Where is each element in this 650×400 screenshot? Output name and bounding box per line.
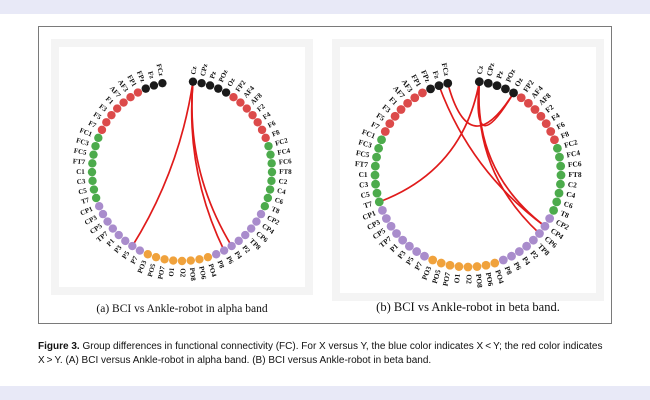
electrode-node bbox=[212, 250, 220, 258]
electrode-node bbox=[529, 236, 538, 245]
electrode-node bbox=[555, 189, 564, 198]
electrode-node bbox=[499, 256, 508, 265]
electrode-node bbox=[247, 224, 255, 232]
electrode-node bbox=[235, 237, 243, 245]
electrode-node bbox=[103, 217, 111, 225]
electrode-node bbox=[253, 118, 261, 126]
connectivity-plot-beta: CzCPzPzPOzOzFP2AF4AF8F2F4F6F8FC2FC4FC6FT… bbox=[332, 39, 604, 301]
electrode-label: FT7 bbox=[72, 157, 86, 166]
electrode-node bbox=[493, 81, 502, 90]
electrode-node bbox=[397, 105, 406, 114]
electrode-node bbox=[142, 84, 150, 92]
electrode-node bbox=[189, 77, 197, 85]
electrode-node bbox=[197, 79, 205, 87]
electrode-node bbox=[473, 262, 482, 271]
electrode-label: O1 bbox=[167, 267, 176, 277]
electrode-node bbox=[398, 236, 407, 245]
electrode-label: PO6 bbox=[197, 266, 208, 281]
electrode-node bbox=[375, 197, 384, 206]
circle-graph-alpha: CzCPzPzPOzOzFP2AF4AF8F2F4F6F8FC2FC4FC6FT… bbox=[59, 47, 305, 287]
figure-label: Figure 3. bbox=[38, 341, 80, 352]
electrode-label: Cz bbox=[475, 64, 485, 74]
panel-caption-alpha: (a) BCI vs Ankle-robot in alpha band bbox=[39, 303, 325, 315]
electrode-node bbox=[405, 242, 414, 251]
electrode-node bbox=[113, 104, 121, 112]
electrode-node bbox=[158, 79, 166, 87]
electrode-node bbox=[267, 159, 275, 167]
electrode-node bbox=[128, 242, 136, 250]
connection-edge bbox=[132, 82, 193, 246]
electrode-node bbox=[392, 229, 401, 238]
electrode-node bbox=[501, 84, 510, 93]
electrode-label: C5 bbox=[360, 189, 371, 200]
electrode-node bbox=[549, 206, 558, 215]
electrode-label: PO7 bbox=[156, 265, 167, 280]
electrode-node bbox=[552, 197, 561, 206]
electrode-node bbox=[550, 135, 559, 144]
electrode-node bbox=[222, 88, 230, 96]
electrode-node bbox=[426, 84, 435, 93]
electrode-node bbox=[264, 142, 272, 150]
electrode-node bbox=[382, 214, 391, 223]
electrode-label: FT8 bbox=[279, 168, 292, 176]
electrode-label: O1 bbox=[452, 273, 462, 284]
electrode-node bbox=[381, 127, 390, 136]
electrode-node bbox=[378, 206, 387, 215]
electrode-label: FC2 bbox=[274, 136, 289, 147]
electrode-label: P8 bbox=[216, 259, 227, 270]
electrode-node bbox=[152, 253, 160, 261]
figure-caption: Figure 3. Group differences in functiona… bbox=[38, 340, 612, 368]
electrode-label: C1 bbox=[358, 170, 367, 179]
electrode-node bbox=[557, 171, 566, 180]
electrode-label: FT7 bbox=[355, 159, 369, 169]
electrode-node bbox=[507, 252, 516, 261]
electrode-node bbox=[115, 231, 123, 239]
electrode-label: O2 bbox=[178, 268, 186, 277]
electrode-node bbox=[258, 126, 266, 134]
electrode-node bbox=[160, 255, 168, 263]
electrode-node bbox=[555, 153, 564, 162]
electrode-node bbox=[102, 118, 110, 126]
electrode-node bbox=[372, 153, 381, 162]
connectivity-plot-alpha: CzCPzPzPOzOzFP2AF4AF8F2F4F6F8FC2FC4FC6FT… bbox=[51, 39, 313, 295]
electrode-node bbox=[531, 105, 540, 114]
plot-inner-beta: CzCPzPzPOzOzFP2AF4AF8F2F4F6F8FC2FC4FC6FT… bbox=[340, 47, 596, 293]
electrode-node bbox=[134, 88, 142, 96]
electrode-label: C4 bbox=[276, 187, 287, 197]
electrode-node bbox=[91, 142, 99, 150]
electrode-node bbox=[403, 99, 412, 108]
electrode-node bbox=[435, 81, 444, 90]
electrode-node bbox=[236, 98, 244, 106]
electrode-node bbox=[490, 259, 499, 268]
electrode-label: C3 bbox=[359, 180, 369, 190]
electrode-node bbox=[204, 253, 212, 261]
electrode-label: Fz bbox=[146, 70, 156, 80]
electrode-node bbox=[475, 77, 484, 86]
electrode-node bbox=[109, 224, 117, 232]
electrode-node bbox=[535, 229, 544, 238]
electrode-node bbox=[94, 134, 102, 142]
electrode-node bbox=[261, 202, 269, 210]
electrode-label: PO8 bbox=[188, 267, 197, 281]
electrode-label: C3 bbox=[76, 177, 86, 186]
electrode-node bbox=[121, 237, 129, 245]
electrode-node bbox=[385, 119, 394, 128]
electrode-node bbox=[266, 150, 274, 158]
electrode-label: C5 bbox=[78, 187, 89, 197]
electrode-label: CPz bbox=[199, 63, 210, 77]
electrode-node bbox=[545, 214, 554, 223]
electrode-label: PO7 bbox=[441, 271, 453, 287]
electrode-node bbox=[482, 261, 491, 270]
electrode-label: FC3 bbox=[75, 136, 90, 147]
electrode-node bbox=[371, 180, 380, 189]
panel-alpha-band: CzCPzPzPOzOzFP2AF4AF8F2F4F6F8FC2FC4FC6FT… bbox=[39, 27, 325, 323]
electrode-label: PO4 bbox=[207, 263, 219, 278]
electrode-node bbox=[509, 89, 518, 98]
electrode-node bbox=[261, 134, 269, 142]
electrode-label: Cz bbox=[189, 66, 198, 75]
electrode-node bbox=[515, 247, 524, 256]
electrode-node bbox=[257, 210, 265, 218]
electrode-label: FC6 bbox=[568, 159, 583, 169]
electrode-node bbox=[455, 262, 464, 271]
electrode-label: C6 bbox=[274, 196, 285, 206]
electrode-node bbox=[428, 256, 437, 265]
electrode-node bbox=[464, 263, 473, 272]
electrode-node bbox=[248, 111, 256, 119]
electrode-node bbox=[88, 159, 96, 167]
electrode-label: Pz bbox=[208, 70, 218, 80]
electrode-node bbox=[437, 259, 446, 268]
electrode-node bbox=[243, 104, 251, 112]
electrode-node bbox=[373, 189, 382, 198]
electrode-node bbox=[371, 162, 380, 171]
electrode-node bbox=[542, 119, 551, 128]
electrode-node bbox=[267, 177, 275, 185]
electrode-node bbox=[214, 84, 222, 92]
electrode-node bbox=[522, 242, 531, 251]
electrode-label: FT8 bbox=[568, 170, 582, 179]
electrode-node bbox=[144, 250, 152, 258]
electrode-label: C2 bbox=[567, 180, 577, 190]
electrode-node bbox=[99, 210, 107, 218]
electrode-node bbox=[556, 162, 565, 171]
electrode-node bbox=[524, 99, 533, 108]
electrode-node bbox=[418, 89, 427, 98]
electrode-node bbox=[412, 247, 421, 256]
electrode-node bbox=[443, 79, 452, 88]
electrode-node bbox=[95, 202, 103, 210]
electrode-node bbox=[252, 217, 260, 225]
circle-graph-beta: CzCPzPzPOzOzFP2AF4AF8F2F4F6F8FC2FC4FC6FT… bbox=[340, 47, 596, 293]
panel-caption-beta: (b) BCI vs Ankle-robot in beta band. bbox=[325, 300, 611, 315]
electrode-node bbox=[107, 111, 115, 119]
electrode-node bbox=[92, 194, 100, 202]
plot-inner-alpha: CzCPzPzPOzOzFP2AF4AF8F2F4F6F8FC2FC4FC6FT… bbox=[59, 47, 305, 287]
electrode-label: FC6 bbox=[278, 157, 292, 166]
electrode-node bbox=[178, 257, 186, 265]
electrode-node bbox=[89, 150, 97, 158]
page-bottom-band bbox=[0, 386, 650, 400]
electrode-label: PO6 bbox=[484, 271, 496, 287]
electrode-label: FC4 bbox=[566, 148, 581, 159]
electrode-label: FC4 bbox=[277, 147, 292, 157]
electrode-node bbox=[541, 222, 550, 231]
electrode-node bbox=[88, 177, 96, 185]
electrode-node bbox=[169, 256, 177, 264]
electrode-node bbox=[266, 185, 274, 193]
node-layer: CzCPzPzPOzOzFP2AF4AF8F2F4F6F8FC2FC4FC6FT… bbox=[355, 61, 583, 288]
electrode-label: C2 bbox=[278, 177, 288, 186]
electrode-node bbox=[187, 256, 195, 264]
electrode-node bbox=[374, 144, 383, 153]
electrode-node bbox=[126, 93, 134, 101]
electrode-node bbox=[371, 171, 380, 180]
edge-layer bbox=[132, 82, 231, 251]
electrode-node bbox=[229, 93, 237, 101]
electrode-node bbox=[136, 246, 144, 254]
electrode-node bbox=[268, 168, 276, 176]
electrode-node bbox=[377, 135, 386, 144]
electrode-node bbox=[119, 98, 127, 106]
electrode-node bbox=[88, 168, 96, 176]
electrode-node bbox=[264, 194, 272, 202]
electrode-label: O2 bbox=[464, 274, 473, 284]
electrode-node bbox=[420, 252, 429, 261]
electrode-node bbox=[227, 242, 235, 250]
electrode-label: FCz bbox=[155, 63, 166, 77]
electrode-node bbox=[387, 222, 396, 231]
electrode-node bbox=[556, 180, 565, 189]
electrode-label: FC5 bbox=[73, 147, 88, 157]
electrode-node bbox=[195, 255, 203, 263]
electrode-node bbox=[150, 81, 158, 89]
electrode-node bbox=[241, 231, 249, 239]
electrode-node bbox=[90, 185, 98, 193]
electrode-label: C1 bbox=[76, 168, 85, 176]
electrode-node bbox=[546, 127, 555, 136]
electrode-label: FC5 bbox=[355, 148, 370, 159]
electrode-node bbox=[206, 81, 214, 89]
electrode-label: T7 bbox=[80, 196, 91, 206]
electrode-node bbox=[484, 79, 493, 88]
electrode-node bbox=[391, 112, 400, 121]
electrode-node bbox=[220, 246, 228, 254]
figure-caption-text: Group differences in functional connecti… bbox=[38, 341, 602, 366]
panel-beta-band: CzCPzPzPOzOzFP2AF4AF8F2F4F6F8FC2FC4FC6FT… bbox=[325, 27, 611, 323]
electrode-label: PO5 bbox=[146, 262, 158, 277]
panel-row: CzCPzPzPOzOzFP2AF4AF8F2F4F6F8FC2FC4FC6FT… bbox=[39, 27, 611, 323]
electrode-node bbox=[553, 144, 562, 153]
connection-edge bbox=[479, 82, 545, 227]
electrode-node bbox=[537, 112, 546, 121]
node-layer: CzCPzPzPOzOzFP2AF4AF8F2F4F6F8FC2FC4FC6FT… bbox=[72, 63, 292, 282]
page-top-band bbox=[0, 0, 650, 14]
electrode-label: F8 bbox=[271, 128, 282, 138]
electrode-label: PO8 bbox=[474, 273, 484, 288]
electrode-node bbox=[446, 261, 455, 270]
electrode-node bbox=[98, 126, 106, 134]
electrode-node bbox=[517, 93, 526, 102]
electrode-node bbox=[410, 93, 419, 102]
figure-container: CzCPzPzPOzOzFP2AF4AF8F2F4F6F8FC2FC4FC6FT… bbox=[38, 26, 612, 324]
